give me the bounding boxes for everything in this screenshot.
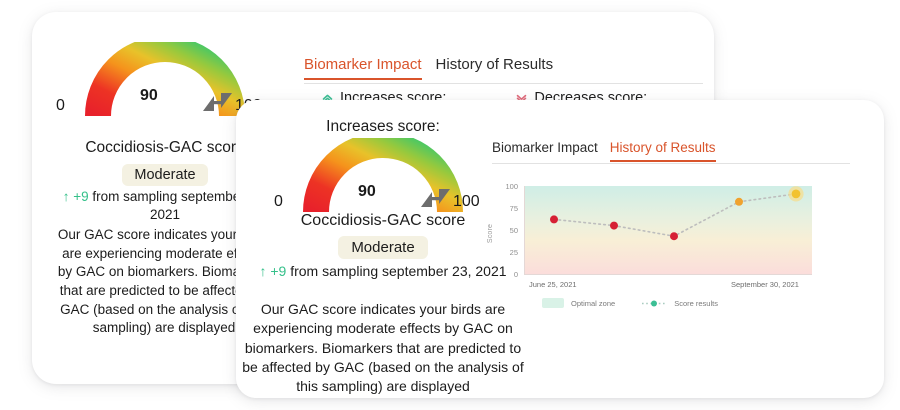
- delta-value: +9: [270, 263, 286, 279]
- gauge-mid-label: 90: [140, 87, 158, 105]
- gauge-mid-label: 90: [358, 183, 376, 201]
- status-badge: Moderate: [338, 236, 427, 259]
- data-point-4[interactable]: [735, 198, 743, 206]
- front-card-score-title: Coccidiosis-GAC score: [248, 212, 518, 230]
- legend-item-optimal-zone[interactable]: Optimal zone: [542, 298, 615, 308]
- screenshot-root: Biomarker Impact History of Results Incr…: [0, 0, 900, 410]
- delta-value: +9: [73, 189, 88, 204]
- gauge-needle-marker: [201, 90, 235, 114]
- x-axis-label-end: September 30, 2021: [731, 280, 799, 289]
- data-point-3[interactable]: [670, 232, 678, 240]
- legend-item-score-results[interactable]: Score results: [641, 299, 718, 308]
- y-tick-50: 50: [496, 226, 518, 235]
- delta-up-arrow-icon: ↑: [63, 189, 70, 204]
- history-of-results-card: Increases score:: [236, 100, 884, 398]
- delta-text: from sampling september 23, 2021: [290, 263, 506, 279]
- y-tick-25: 25: [496, 248, 518, 257]
- optimal-zone-swatch-icon: [542, 298, 564, 308]
- tab-history-of-results[interactable]: History of Results: [610, 140, 716, 162]
- front-card-key-heading: Increases score:: [248, 118, 518, 136]
- tab-biomarker-impact[interactable]: Biomarker Impact: [492, 140, 598, 162]
- legend-label-score-results: Score results: [674, 299, 718, 308]
- front-card-delta: ↑ +9 from sampling september 23, 2021: [246, 262, 520, 280]
- front-card-tab-divider: [492, 163, 850, 164]
- x-axis-label-start: June 25, 2021: [529, 280, 577, 289]
- front-card-tabs: Biomarker Impact History of Results: [492, 140, 716, 162]
- y-tick-75: 75: [496, 204, 518, 213]
- y-tick-0: 0: [496, 270, 518, 279]
- chart-plot-area: [524, 186, 812, 278]
- legend-label-optimal-zone: Optimal zone: [571, 299, 615, 308]
- chart-legend: Optimal zone Score results: [542, 298, 718, 308]
- data-point-2[interactable]: [610, 222, 618, 230]
- delta-up-arrow-icon: ↑: [259, 263, 266, 279]
- back-card-gauge: 0 90 100: [80, 42, 250, 120]
- gauge-max-label: 100: [453, 193, 480, 211]
- back-card-tabs: Biomarker Impact History of Results: [304, 56, 553, 80]
- chart-y-axis-title: Score: [487, 224, 494, 243]
- y-tick-100: 100: [496, 182, 518, 191]
- front-card-body-copy: Our GAC score indicates your birds are e…: [240, 300, 526, 397]
- back-card-tab-divider: [304, 83, 703, 84]
- data-point-5-highlighted[interactable]: [792, 190, 801, 199]
- gauge-min-label: 0: [56, 97, 65, 115]
- tab-biomarker-impact[interactable]: Biomarker Impact: [304, 56, 422, 80]
- score-history-chart: Score 100 75 50 25 0: [494, 186, 814, 306]
- gauge-needle-marker: [419, 186, 453, 210]
- front-card-gauge: 0 90 100: [298, 138, 468, 216]
- data-point-1[interactable]: [550, 215, 558, 223]
- gauge-min-label: 0: [274, 193, 283, 211]
- score-results-line-marker-icon: [641, 299, 667, 308]
- tab-history-of-results[interactable]: History of Results: [436, 56, 554, 80]
- front-card-badge-row: Moderate: [248, 236, 518, 259]
- status-badge: Moderate: [122, 164, 207, 186]
